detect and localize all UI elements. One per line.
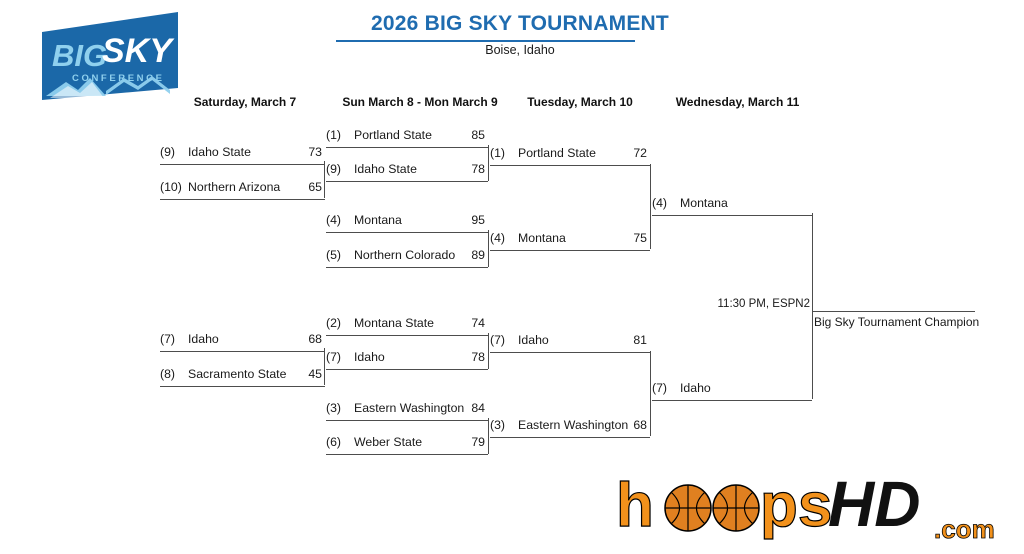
slot-rule bbox=[490, 437, 650, 438]
team-score: 84 bbox=[471, 401, 485, 415]
slot-rule bbox=[326, 335, 488, 336]
match-slot-semifinal-2b[interactable]: (3) Eastern Washington 68 bbox=[490, 418, 650, 436]
championship-time: 11:30 PM, ESPN2 bbox=[645, 298, 810, 310]
champion-rule bbox=[813, 311, 975, 312]
seed-label: (4) bbox=[326, 213, 352, 227]
seed-label: (3) bbox=[490, 418, 516, 432]
match-slot-quarterfinal-1a[interactable]: (1) Portland State 85 bbox=[326, 128, 488, 146]
connector-semifinal-2 bbox=[650, 351, 651, 436]
match-slot-first-round-1[interactable]: (9) Idaho State 73 bbox=[160, 145, 325, 163]
team-name: Montana bbox=[354, 213, 402, 227]
match-slot-quarterfinal-4b[interactable]: (6) Weber State 79 bbox=[326, 435, 488, 453]
seed-label: (4) bbox=[490, 231, 516, 245]
connector-semifinal-1 bbox=[650, 164, 651, 249]
seed-label: (4) bbox=[652, 196, 678, 210]
logo-sky-text: SKY bbox=[102, 32, 175, 70]
team-score: 74 bbox=[471, 316, 485, 330]
round-header-4: Wednesday, March 11 bbox=[655, 95, 820, 109]
seed-label: (7) bbox=[326, 350, 352, 364]
team-score: 65 bbox=[308, 180, 322, 194]
slot-rule bbox=[490, 250, 650, 251]
hoopshd-logo-svg: h ps HD .com bbox=[616, 468, 1016, 548]
seed-label: (3) bbox=[326, 401, 352, 415]
team-name: Eastern Washington bbox=[518, 418, 628, 432]
seed-label: (7) bbox=[160, 332, 186, 346]
slot-rule bbox=[490, 165, 650, 166]
big-sky-logo-svg: BIG SKY CONFERENCE bbox=[20, 10, 188, 102]
seed-label: (8) bbox=[160, 367, 186, 381]
round-header-3: Tuesday, March 10 bbox=[500, 95, 660, 109]
match-slot-quarterfinal-2a[interactable]: (4) Montana 95 bbox=[326, 213, 488, 231]
seed-label: (7) bbox=[490, 333, 516, 347]
slot-rule bbox=[160, 164, 325, 165]
team-name: Portland State bbox=[354, 128, 432, 142]
connector-first-round-2 bbox=[324, 348, 325, 385]
champion-label: Big Sky Tournament Champion bbox=[814, 315, 979, 329]
slot-rule bbox=[326, 181, 488, 182]
team-name: Eastern Washington bbox=[354, 401, 464, 415]
slot-rule bbox=[326, 232, 488, 233]
team-score: 78 bbox=[471, 162, 485, 176]
team-name: Idaho bbox=[680, 381, 711, 395]
hoops-text-ps: ps bbox=[760, 471, 832, 540]
slot-rule bbox=[326, 420, 488, 421]
team-name: Idaho State bbox=[354, 162, 417, 176]
match-slot-quarterfinal-3b[interactable]: (7) Idaho 78 bbox=[326, 350, 488, 368]
team-score: 85 bbox=[471, 128, 485, 142]
team-score: 68 bbox=[308, 332, 322, 346]
team-score: 73 bbox=[308, 145, 322, 159]
match-slot-semifinal-1b[interactable]: (4) Montana 75 bbox=[490, 231, 650, 249]
team-score: 72 bbox=[633, 146, 647, 160]
connector-quarterfinal-4 bbox=[488, 418, 489, 454]
title-underline bbox=[336, 40, 635, 42]
team-score: 79 bbox=[471, 435, 485, 449]
seed-label: (9) bbox=[160, 145, 186, 159]
match-slot-first-round-3[interactable]: (7) Idaho 68 bbox=[160, 332, 325, 350]
big-sky-conference-logo: BIG SKY CONFERENCE bbox=[20, 10, 188, 102]
match-slot-final-1[interactable]: (4) Montana bbox=[652, 196, 812, 214]
match-slot-first-round-2[interactable]: (10) Northern Arizona 65 bbox=[160, 180, 325, 198]
team-score: 78 bbox=[471, 350, 485, 364]
hoopshd-text-hd: HD bbox=[828, 468, 920, 540]
team-name: Idaho State bbox=[188, 145, 251, 159]
slot-rule bbox=[652, 215, 812, 216]
seed-label: (6) bbox=[326, 435, 352, 449]
slot-rule bbox=[160, 386, 325, 387]
slot-rule bbox=[326, 147, 488, 148]
team-name: Sacramento State bbox=[188, 367, 286, 381]
slot-rule bbox=[160, 199, 325, 200]
slot-rule bbox=[326, 454, 488, 455]
slot-rule bbox=[652, 400, 812, 401]
slot-rule bbox=[160, 351, 325, 352]
connector-quarterfinal-2 bbox=[488, 230, 489, 267]
team-score: 81 bbox=[633, 333, 647, 347]
team-name: Montana State bbox=[354, 316, 434, 330]
match-slot-semifinal-2a[interactable]: (7) Idaho 81 bbox=[490, 333, 650, 351]
slot-rule bbox=[490, 352, 650, 353]
team-score: 75 bbox=[633, 231, 647, 245]
page-title: 2026 BIG SKY TOURNAMENT bbox=[220, 12, 820, 36]
round-header-1: Saturday, March 7 bbox=[170, 95, 320, 109]
seed-label: (7) bbox=[652, 381, 678, 395]
match-slot-semifinal-1a[interactable]: (1) Portland State 72 bbox=[490, 146, 650, 164]
team-name: Idaho bbox=[188, 332, 219, 346]
match-slot-quarterfinal-4a[interactable]: (3) Eastern Washington 84 bbox=[326, 401, 488, 419]
team-name: Idaho bbox=[518, 333, 549, 347]
seed-label: (1) bbox=[326, 128, 352, 142]
match-slot-quarterfinal-3a[interactable]: (2) Montana State 74 bbox=[326, 316, 488, 334]
team-name: Weber State bbox=[354, 435, 422, 449]
connector-quarterfinal-1 bbox=[488, 145, 489, 181]
page-subtitle: Boise, Idaho bbox=[220, 43, 820, 57]
match-slot-final-2[interactable]: (7) Idaho bbox=[652, 381, 812, 399]
team-name: Montana bbox=[680, 196, 728, 210]
seed-label: (1) bbox=[490, 146, 516, 160]
team-name: Montana bbox=[518, 231, 566, 245]
team-name: Northern Arizona bbox=[188, 180, 280, 194]
team-score: 45 bbox=[308, 367, 322, 381]
match-slot-quarterfinal-1b[interactable]: (9) Idaho State 78 bbox=[326, 162, 488, 180]
match-slot-quarterfinal-2b[interactable]: (5) Northern Colorado 89 bbox=[326, 248, 488, 266]
connector-final bbox=[812, 213, 813, 399]
round-header-2: Sun March 8 - Mon March 9 bbox=[330, 95, 510, 109]
seed-label: (5) bbox=[326, 248, 352, 262]
team-score: 89 bbox=[471, 248, 485, 262]
team-score: 68 bbox=[633, 418, 647, 432]
hoops-text-h: h bbox=[616, 471, 654, 540]
seed-label: (2) bbox=[326, 316, 352, 330]
team-name: Northern Colorado bbox=[354, 248, 455, 262]
bracket-page: BIG SKY CONFERENCE 2026 BIG SKY TOURNAME… bbox=[0, 0, 1024, 554]
team-name: Idaho bbox=[354, 350, 385, 364]
match-slot-first-round-4[interactable]: (8) Sacramento State 45 bbox=[160, 367, 325, 385]
connector-quarterfinal-3 bbox=[488, 333, 489, 369]
hoopshd-text-com: .com bbox=[934, 514, 995, 544]
logo-big-text: BIG bbox=[52, 38, 107, 73]
slot-rule bbox=[326, 267, 488, 268]
seed-label: (10) bbox=[160, 180, 186, 194]
slot-rule bbox=[326, 369, 488, 370]
team-score: 95 bbox=[471, 213, 485, 227]
seed-label: (9) bbox=[326, 162, 352, 176]
hoopshd-logo: h ps HD .com bbox=[616, 468, 1016, 548]
team-name: Portland State bbox=[518, 146, 596, 160]
connector-first-round-1 bbox=[324, 161, 325, 198]
